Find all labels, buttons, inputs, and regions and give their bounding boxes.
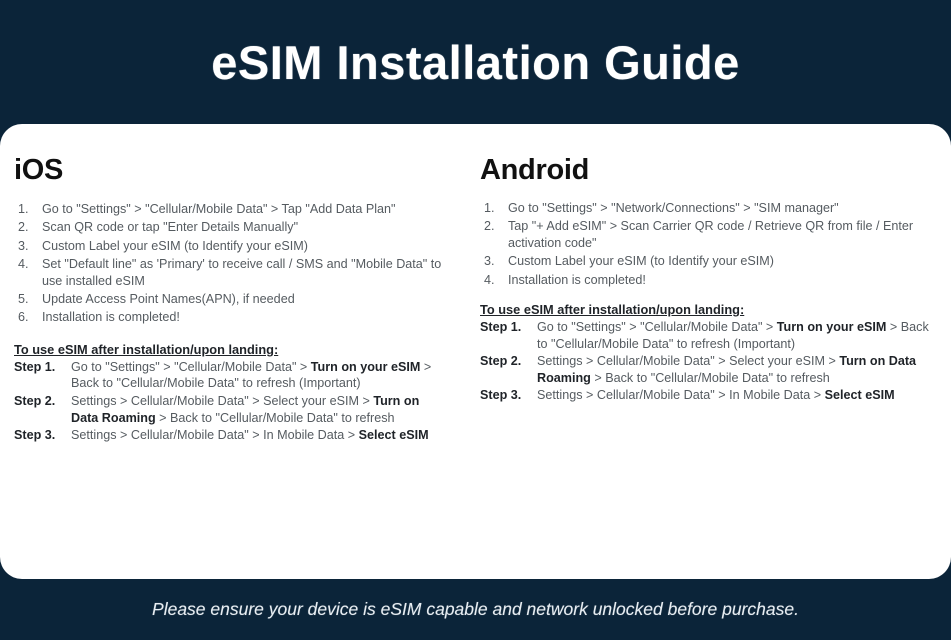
step-text: Settings > Cellular/Mobile Data" > In Mo… [71,428,359,442]
android-numbered-list: 1.Go to "Settings" > "Network/Connection… [482,200,931,288]
list-item: 6.Installation is completed! [16,309,448,325]
list-item-text: Go to "Settings" > "Network/Connections"… [508,201,839,215]
list-item-text: Set "Default line" as 'Primary' to recei… [42,257,441,287]
list-item-number: 3. [18,238,29,254]
list-item: 5.Update Access Point Names(APN), if nee… [16,291,448,307]
step-label: Step 2. [480,353,521,370]
step-item: Step 1.Go to "Settings" > "Cellular/Mobi… [14,359,448,392]
android-column: Android 1.Go to "Settings" > "Network/Co… [462,146,951,579]
list-item-text: Installation is completed! [42,310,180,324]
list-item: 4.Set "Default line" as 'Primary' to rec… [16,256,448,289]
footer-band: Please ensure your device is eSIM capabl… [0,579,951,640]
step-text: Go to "Settings" > "Cellular/Mobile Data… [71,360,311,374]
step-text-emphasis: Select eSIM [359,428,429,442]
list-item: 2.Scan QR code or tap "Enter Details Man… [16,219,448,235]
list-item-number: 4. [18,256,29,272]
step-text-emphasis: Select eSIM [825,388,895,402]
ios-numbered-list: 1.Go to "Settings" > "Cellular/Mobile Da… [16,201,448,326]
step-item: Step 2.Settings > Cellular/Mobile Data" … [14,393,448,426]
list-item-text: Custom Label your eSIM (to Identify your… [42,239,308,253]
step-label: Step 1. [480,319,521,336]
ios-heading: iOS [14,154,448,187]
content-card: iOS 1.Go to "Settings" > "Cellular/Mobil… [0,124,951,579]
footer-notice: Please ensure your device is eSIM capabl… [152,599,799,620]
step-text: > Back to "Cellular/Mobile Data" to refr… [156,411,395,425]
list-item-number: 2. [484,218,495,234]
android-use-steps: Step 1.Go to "Settings" > "Cellular/Mobi… [480,319,931,404]
list-item: 2.Tap "+ Add eSIM" > Scan Carrier QR cod… [482,218,931,251]
list-item-number: 2. [18,219,29,235]
list-item-text: Go to "Settings" > "Cellular/Mobile Data… [42,202,396,216]
step-text-emphasis: Turn on your eSIM [777,320,887,334]
list-item-number: 5. [18,291,29,307]
list-item-text: Update Access Point Names(APN), if neede… [42,292,295,306]
step-text: Go to "Settings" > "Cellular/Mobile Data… [537,320,777,334]
step-item: Step 1.Go to "Settings" > "Cellular/Mobi… [480,319,931,352]
list-item-text: Tap "+ Add eSIM" > Scan Carrier QR code … [508,219,913,249]
step-label: Step 1. [14,359,55,376]
list-item: 3.Custom Label your eSIM (to Identify yo… [16,238,448,254]
list-item-text: Installation is completed! [508,273,646,287]
ios-use-steps: Step 1.Go to "Settings" > "Cellular/Mobi… [14,359,448,444]
list-item: 3.Custom Label your eSIM (to Identify yo… [482,253,931,269]
list-item-text: Scan QR code or tap "Enter Details Manua… [42,220,298,234]
ios-column: iOS 1.Go to "Settings" > "Cellular/Mobil… [0,146,462,579]
page-title: eSIM Installation Guide [211,35,740,90]
step-text: > Back to "Cellular/Mobile Data" to refr… [591,371,830,385]
list-item-number: 1. [18,201,29,217]
step-text: Settings > Cellular/Mobile Data" > Selec… [537,354,839,368]
android-heading: Android [480,154,931,187]
step-label: Step 3. [14,427,55,444]
list-item-number: 3. [484,253,495,269]
header-band: eSIM Installation Guide [0,0,951,124]
list-item-number: 1. [484,200,495,216]
list-item: 1.Go to "Settings" > "Network/Connection… [482,200,931,216]
step-label: Step 3. [480,387,521,404]
step-label: Step 2. [14,393,55,410]
step-text-emphasis: Turn on your eSIM [311,360,421,374]
list-item: 4.Installation is completed! [482,272,931,288]
android-use-heading: To use eSIM after installation/upon land… [480,302,931,317]
step-item: Step 3.Settings > Cellular/Mobile Data" … [480,387,931,404]
step-item: Step 2.Settings > Cellular/Mobile Data" … [480,353,931,386]
list-item-number: 4. [484,272,495,288]
step-item: Step 3.Settings > Cellular/Mobile Data" … [14,427,448,444]
step-text: Settings > Cellular/Mobile Data" > Selec… [71,394,373,408]
list-item: 1.Go to "Settings" > "Cellular/Mobile Da… [16,201,448,217]
list-item-text: Custom Label your eSIM (to Identify your… [508,254,774,268]
list-item-number: 6. [18,309,29,325]
step-text: Settings > Cellular/Mobile Data" > In Mo… [537,388,825,402]
ios-use-heading: To use eSIM after installation/upon land… [14,342,448,357]
